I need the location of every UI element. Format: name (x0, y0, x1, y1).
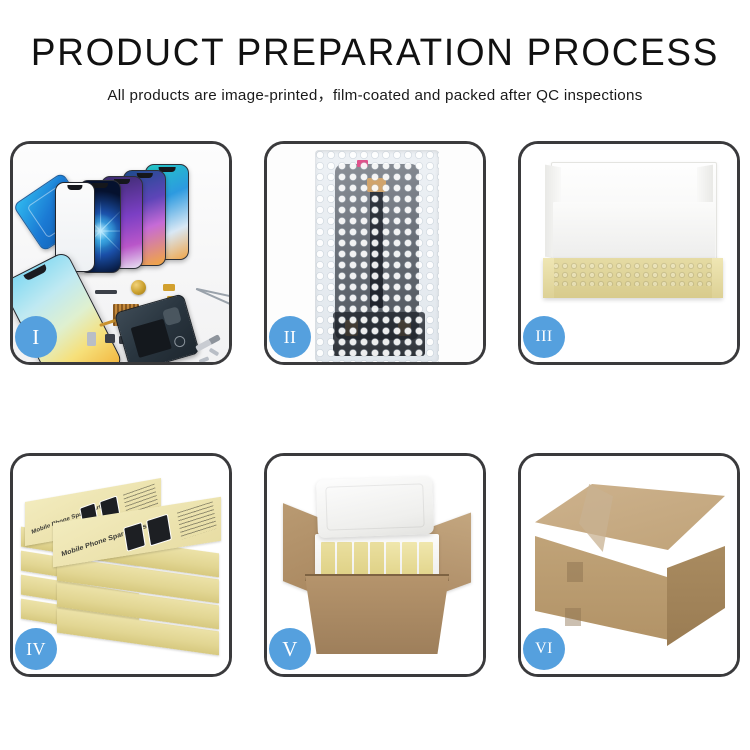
screwdriver-icon (195, 334, 221, 352)
tray-lip-right (712, 258, 723, 298)
carton-side-face (667, 546, 725, 646)
step-badge-6: VI (523, 628, 565, 670)
speaker-mesh-part-icon (131, 280, 146, 295)
process-step-panel-2: II (264, 141, 486, 365)
box-phone-thumbnail-front-1 (123, 522, 146, 552)
gold-connector-icon (163, 284, 175, 291)
small-part-icon-1 (105, 334, 115, 343)
carton-body (305, 576, 449, 654)
earpiece-part-icon (95, 290, 117, 294)
screw-icon-2 (209, 348, 220, 357)
product-preparation-infographic: PRODUCT PREPARATION PROCESS All products… (0, 0, 750, 750)
carton-tab-lower (565, 608, 581, 626)
bubble-texture (315, 150, 439, 362)
process-step-panel-1: I (10, 141, 232, 365)
carton-top-face (535, 484, 725, 550)
step-badge-1: I (15, 316, 57, 358)
process-step-panel-6: VI (518, 453, 740, 677)
header: PRODUCT PREPARATION PROCESS All products… (0, 34, 750, 105)
process-step-panel-3: III (518, 141, 740, 365)
process-step-panel-4: Mobile Phone Spare Parts Mobile Phone Sp… (10, 453, 232, 677)
screw-icon-3 (199, 356, 210, 362)
step-badge-5: V (269, 628, 311, 670)
bubble-wrap-bag (315, 150, 439, 362)
step-badge-4: IV (15, 628, 57, 670)
process-step-grid: I II (10, 141, 740, 681)
carton-front-face (535, 536, 669, 640)
step-badge-3: III (523, 316, 565, 358)
box-spec-text-front (177, 501, 217, 539)
foam-sheet (553, 202, 715, 264)
tray-lip-left (543, 258, 554, 298)
page-title: PRODUCT PREPARATION PROCESS (11, 34, 739, 74)
box-phone-thumbnail-front-2 (146, 514, 172, 547)
process-step-panel-5: V (264, 453, 486, 677)
foam-liner-lid (316, 476, 434, 538)
bubble-wrapped-contents (552, 262, 714, 286)
small-part-icon-3 (87, 332, 96, 346)
carton-tab-upper (567, 562, 583, 582)
page-subtitle: All products are image-printed，film-coat… (0, 83, 750, 105)
step-badge-2: II (269, 316, 311, 358)
sealed-carton (535, 484, 725, 644)
yellow-inner-tray (543, 258, 723, 298)
